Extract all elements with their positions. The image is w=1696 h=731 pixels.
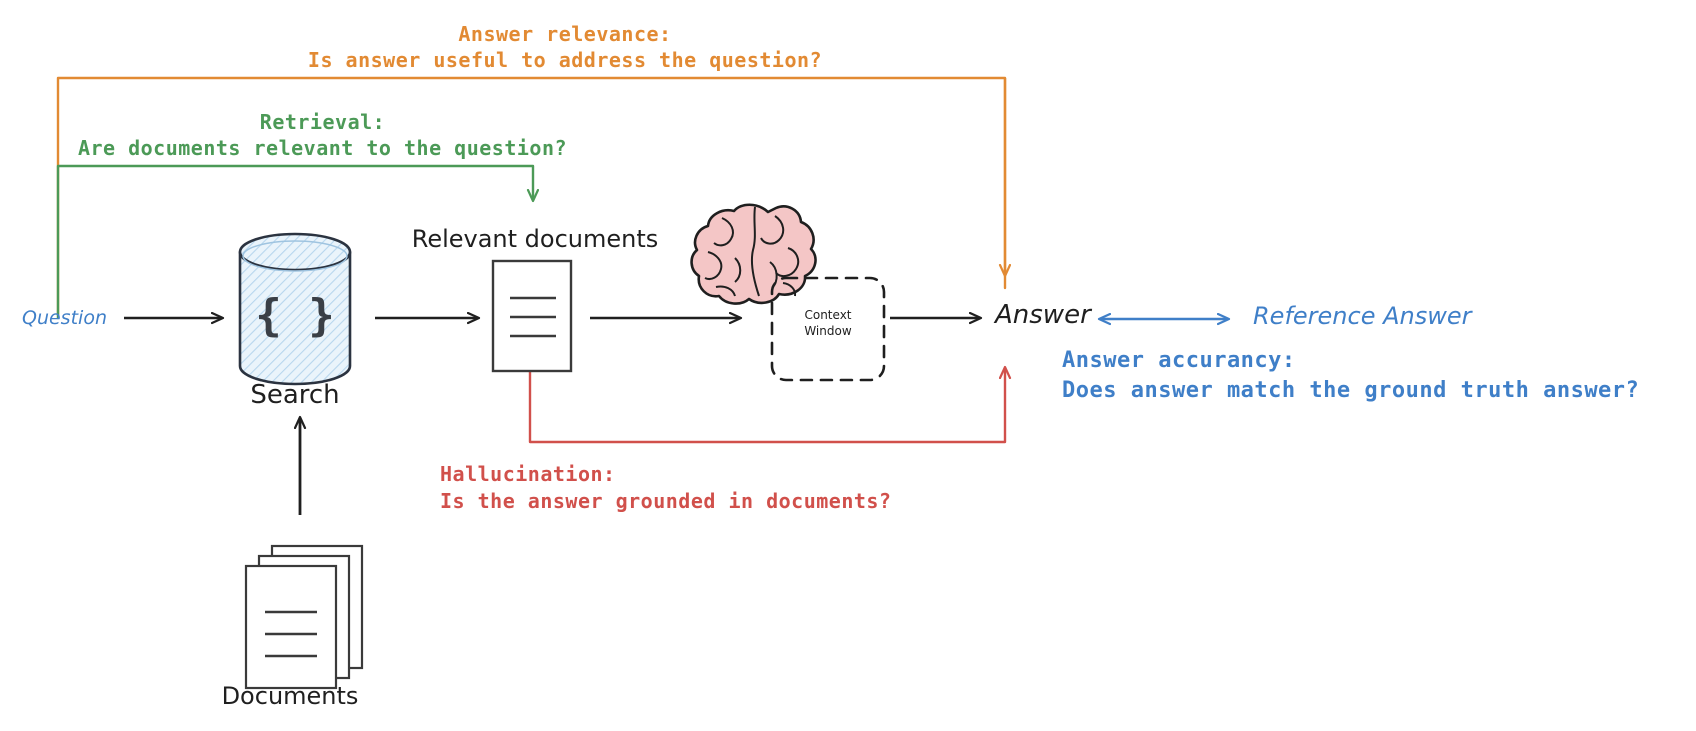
answer-relevance-question: Is answer useful to address the question… (0, 48, 1130, 72)
answer-accuracy-question: Does answer match the ground truth answe… (1062, 378, 1696, 403)
relevant-document-icon (493, 261, 571, 371)
answer-label: Answer (995, 300, 1091, 330)
context-window-label-line2: Window (772, 324, 884, 338)
question-label: Question (22, 307, 107, 329)
documents-label: Documents (195, 682, 385, 710)
answer-accuracy-title: Answer accurancy: (1062, 348, 1696, 373)
context-window-label-line1: Context (772, 308, 884, 322)
relevant-documents-label: Relevant documents (390, 225, 680, 253)
svg-text:{ }: { } (255, 290, 334, 341)
retrieval-question: Are documents relevant to the question? (0, 136, 645, 160)
brain-icon (692, 205, 816, 304)
search-label: Search (200, 380, 390, 410)
search-cylinder-icon: { } (240, 234, 350, 384)
hallucination-title: Hallucination: (440, 462, 1540, 486)
hallucination-path (530, 368, 1005, 442)
retrieval-title: Retrieval: (0, 110, 645, 134)
documents-stack-icon (246, 546, 362, 688)
diagram-canvas: { } (0, 0, 1696, 731)
hallucination-question: Is the answer grounded in documents? (440, 489, 1540, 513)
answer-relevance-title: Answer relevance: (0, 22, 1130, 46)
reference-answer-label: Reference Answer (1253, 302, 1471, 330)
